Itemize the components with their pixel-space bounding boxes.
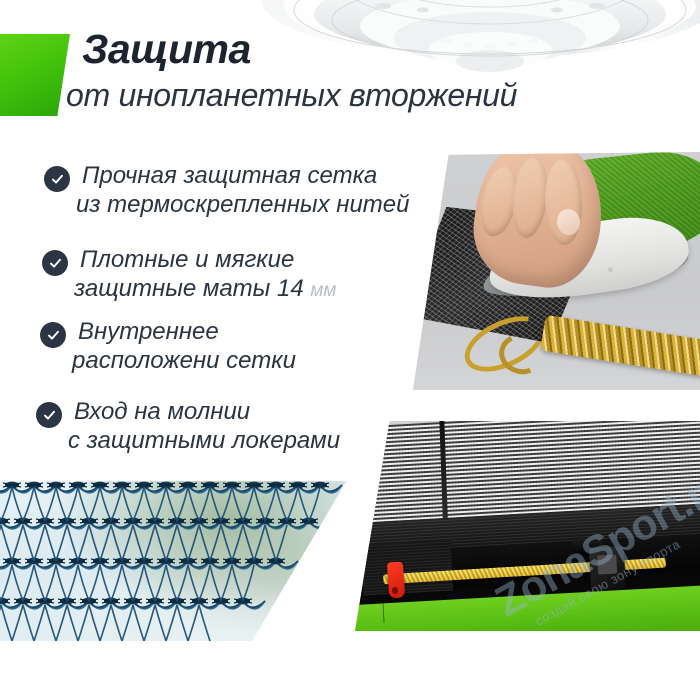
list-item-line2-main: защитные маты 14 <box>74 275 304 302</box>
list-item-unit: мм <box>310 280 336 301</box>
safety-net-photo <box>0 481 350 641</box>
net-mesh-pattern <box>0 481 350 641</box>
zipper-pull-hole <box>392 587 399 594</box>
check-circle-icon <box>42 250 68 276</box>
list-item-line2: с защитными локерами <box>68 427 340 456</box>
list-item-line1: Вход на молнии <box>74 398 250 425</box>
check-circle-icon <box>44 166 70 192</box>
locker-pocket <box>361 540 453 595</box>
black-buckle-clip <box>588 546 625 594</box>
check-circle-icon <box>40 322 66 348</box>
list-item-text: Прочная защитная сетка из термоскрепленн… <box>82 162 410 220</box>
list-item-line2: защитные маты 14 мм <box>74 275 336 304</box>
list-item-line2: из термоскрепленных нитей <box>76 191 410 220</box>
check-circle-icon <box>36 402 62 428</box>
protective-pad-photo <box>413 152 700 390</box>
list-item-text: Плотные и мягкие защитные маты 14 мм <box>80 246 336 304</box>
list-item-line2: расположени сетки <box>72 347 296 376</box>
page-title-line1: Защита <box>82 29 251 70</box>
list-item-line1: Прочная защитная сетка <box>82 162 377 189</box>
list-item-text: Внутреннее расположени сетки <box>78 318 296 376</box>
list-item-line1: Внутреннее <box>78 318 219 345</box>
list-item-line1: Плотные и мягкие <box>80 246 294 273</box>
list-item-text: Вход на молнии с защитными локерами <box>74 398 340 456</box>
banner-canvas: Защита от инопланетных вторжений Прочная… <box>0 0 700 700</box>
zipper-entry-photo <box>355 421 700 631</box>
accent-block <box>0 34 70 116</box>
page-title-line2: от инопланетных вторжений <box>66 79 517 111</box>
